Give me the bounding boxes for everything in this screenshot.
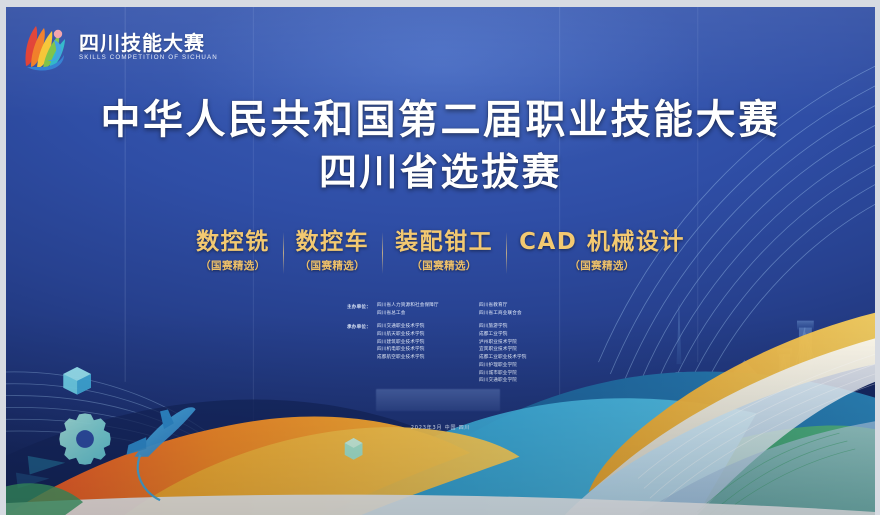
banner-frame: 四川技能大赛 SKILLS COMPETITION OF SICHUAN 中华人… (6, 7, 875, 515)
organizer-item: 四川护理职业学院 (479, 363, 557, 369)
organizer-item: 成都工业学院 (479, 332, 557, 338)
category-item: 数控铣 （国赛精选） (183, 229, 283, 273)
coorg-label: 承办单位： (347, 324, 377, 385)
coorg-right-column: 四川旅游学院 成都工业学院 泸州职业技术学院 宜宾职业技术学院 成都工业职业技术… (479, 324, 557, 385)
coorg-left-column: 四川交通职业技术学院 四川航天职业技术学院 四川建筑职业技术学院 四川机电职业技… (377, 324, 473, 385)
category-sub: （国赛精选） (196, 258, 270, 273)
organizer-item: 四川旅游学院 (479, 324, 557, 330)
organizer-item: 四川省教育厅 (479, 303, 557, 309)
organizer-item: 成都工业职业技术学院 (479, 355, 557, 361)
logo-name-en: SKILLS COMPETITION OF SICHUAN (79, 55, 218, 61)
coorganizers: 承办单位： 四川交通职业技术学院 四川航天职业技术学院 四川建筑职业技术学院 四… (347, 324, 569, 385)
category-name: CAD 机械设计 (519, 229, 685, 255)
projection-screen-glow (376, 389, 500, 411)
category-item: 装配钳工 （国赛精选） (382, 229, 506, 273)
page-title: 中华人民共和国第二届职业技能大赛 (6, 97, 875, 144)
organizer-item: 成都航空职业技术学院 (377, 355, 473, 361)
event-backdrop-banner: 四川技能大赛 SKILLS COMPETITION OF SICHUAN 中华人… (0, 0, 880, 515)
crystal-icon (345, 438, 363, 460)
host-left-column: 四川省人力资源和社会保障厅 四川省总工会 (377, 303, 473, 317)
leaf-wedge (6, 483, 83, 515)
logo-text-group: 四川技能大赛 SKILLS COMPETITION OF SICHUAN (79, 33, 218, 61)
organizer-item: 四川省人力资源和社会保障厅 (377, 303, 473, 309)
organizer-item: 四川交通职业技术学院 (377, 324, 473, 330)
wave-green (559, 425, 875, 515)
organizer-item: 四川航天职业技术学院 (377, 332, 473, 338)
category-name: 装配钳工 (395, 229, 493, 255)
category-name: 数控铣 (196, 229, 270, 255)
wave-amber (125, 427, 520, 515)
organizer-item: 四川交通职业学院 (479, 378, 557, 384)
organizer-item: 四川机电职业技术学院 (377, 347, 473, 353)
page-subtitle: 四川省选拔赛 (6, 150, 875, 195)
logo-name-cn: 四川技能大赛 (79, 33, 218, 53)
organizer-item: 四川省工商业联合会 (479, 311, 557, 317)
sichuan-skills-logo: 四川技能大赛 SKILLS COMPETITION OF SICHUAN (20, 19, 218, 75)
wave-pale-right (638, 421, 875, 515)
skyline-group (664, 303, 848, 500)
rainbow-fan-logo-icon (20, 19, 72, 75)
organizer-item: 四川省总工会 (377, 311, 473, 317)
cube-icon (63, 367, 91, 395)
category-sub: （国赛精选） (519, 258, 685, 273)
category-item: CAD 机械设计 （国赛精选） (506, 229, 698, 273)
date-location-text: 2023年3月 中国·四川 (411, 425, 471, 431)
competition-categories: 数控铣 （国赛精选） 数控车 （国赛精选） 装配钳工 （国赛精选） CAD 机械… (6, 229, 875, 273)
category-sub: （国赛精选） (395, 258, 493, 273)
host-label: 主办单位： (347, 303, 377, 317)
organizer-item: 四川城市职业学院 (479, 371, 557, 377)
host-right-column: 四川省教育厅 四川省工商业联合会 (479, 303, 557, 317)
date-location-bar: 2023年3月 中国·四川 (6, 416, 875, 434)
host-organizers: 主办单位： 四川省人力资源和社会保障厅 四川省总工会 四川省教育厅 四川省工商业… (347, 303, 569, 317)
triangle-accent-icon (16, 456, 65, 489)
wave-bottom-strip (6, 495, 875, 515)
wave-gold-right (589, 313, 875, 493)
category-sub: （国赛精选） (296, 258, 370, 273)
category-name: 数控车 (296, 229, 370, 255)
left-line-fan (6, 372, 283, 510)
organizer-item: 宜宾职业技术学院 (479, 347, 557, 353)
organizer-credits: 主办单位： 四川省人力资源和社会保障厅 四川省总工会 四川省教育厅 四川省工商业… (347, 303, 569, 392)
organizer-item: 四川建筑职业技术学院 (377, 340, 473, 346)
banner-title-group: 中华人民共和国第二届职业技能大赛 四川省选拔赛 (6, 97, 875, 195)
category-item: 数控车 （国赛精选） (283, 229, 383, 273)
organizer-item: 泸州职业技术学院 (479, 340, 557, 346)
